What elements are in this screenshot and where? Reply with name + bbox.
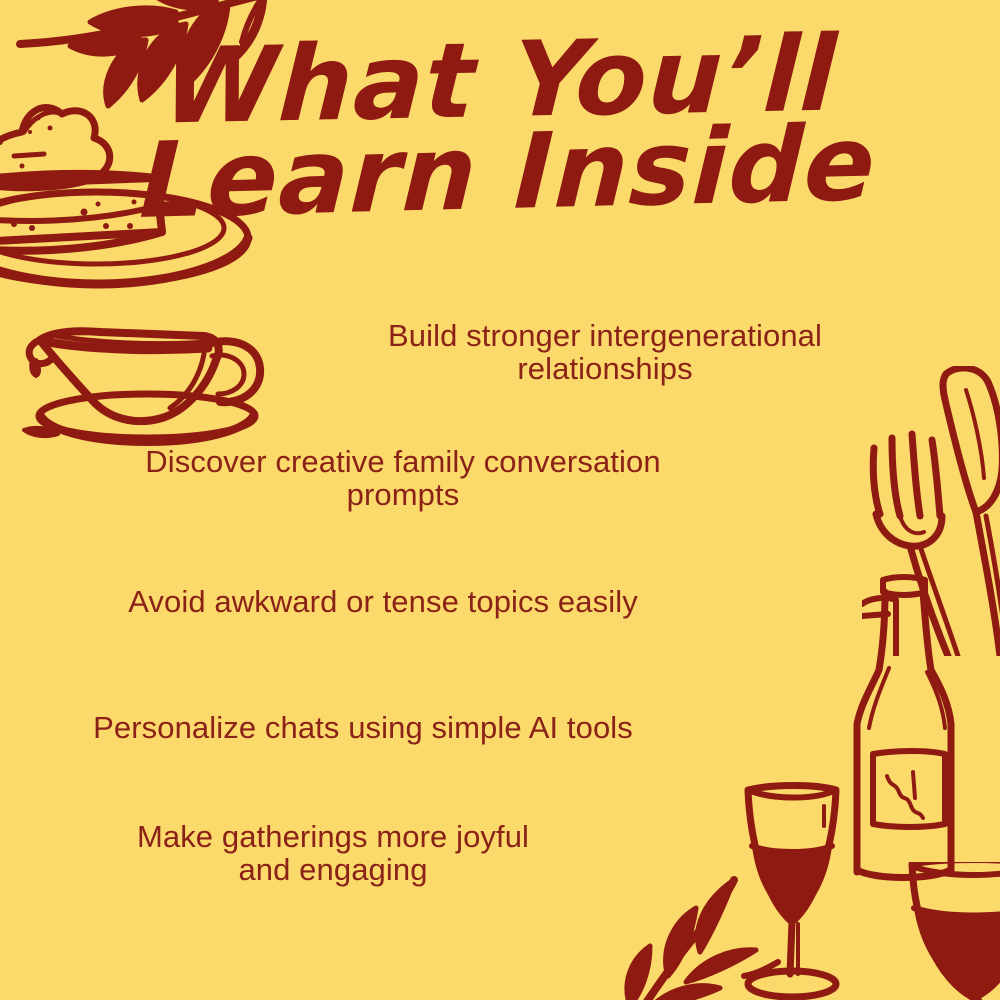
poster-canvas: What You’ll Learn Inside Build stronger … (0, 0, 1000, 1000)
benefit-item: Make gatherings more joyful and engaging (0, 821, 878, 887)
benefit-item: Personalize chats using simple AI tools (0, 712, 908, 745)
benefit-item: Build stronger intergenerational relatio… (60, 320, 1000, 386)
page-title: What You’ll Learn Inside (0, 30, 1000, 224)
benefit-item: Avoid awkward or tense topics easily (0, 586, 928, 619)
wine-glass-icon (738, 776, 848, 1000)
page-title-line-2: Learn Inside (6, 109, 1000, 235)
wine-glass-secondary-icon (908, 862, 1000, 1000)
benefit-item: Discover creative family conversation pr… (0, 446, 948, 512)
